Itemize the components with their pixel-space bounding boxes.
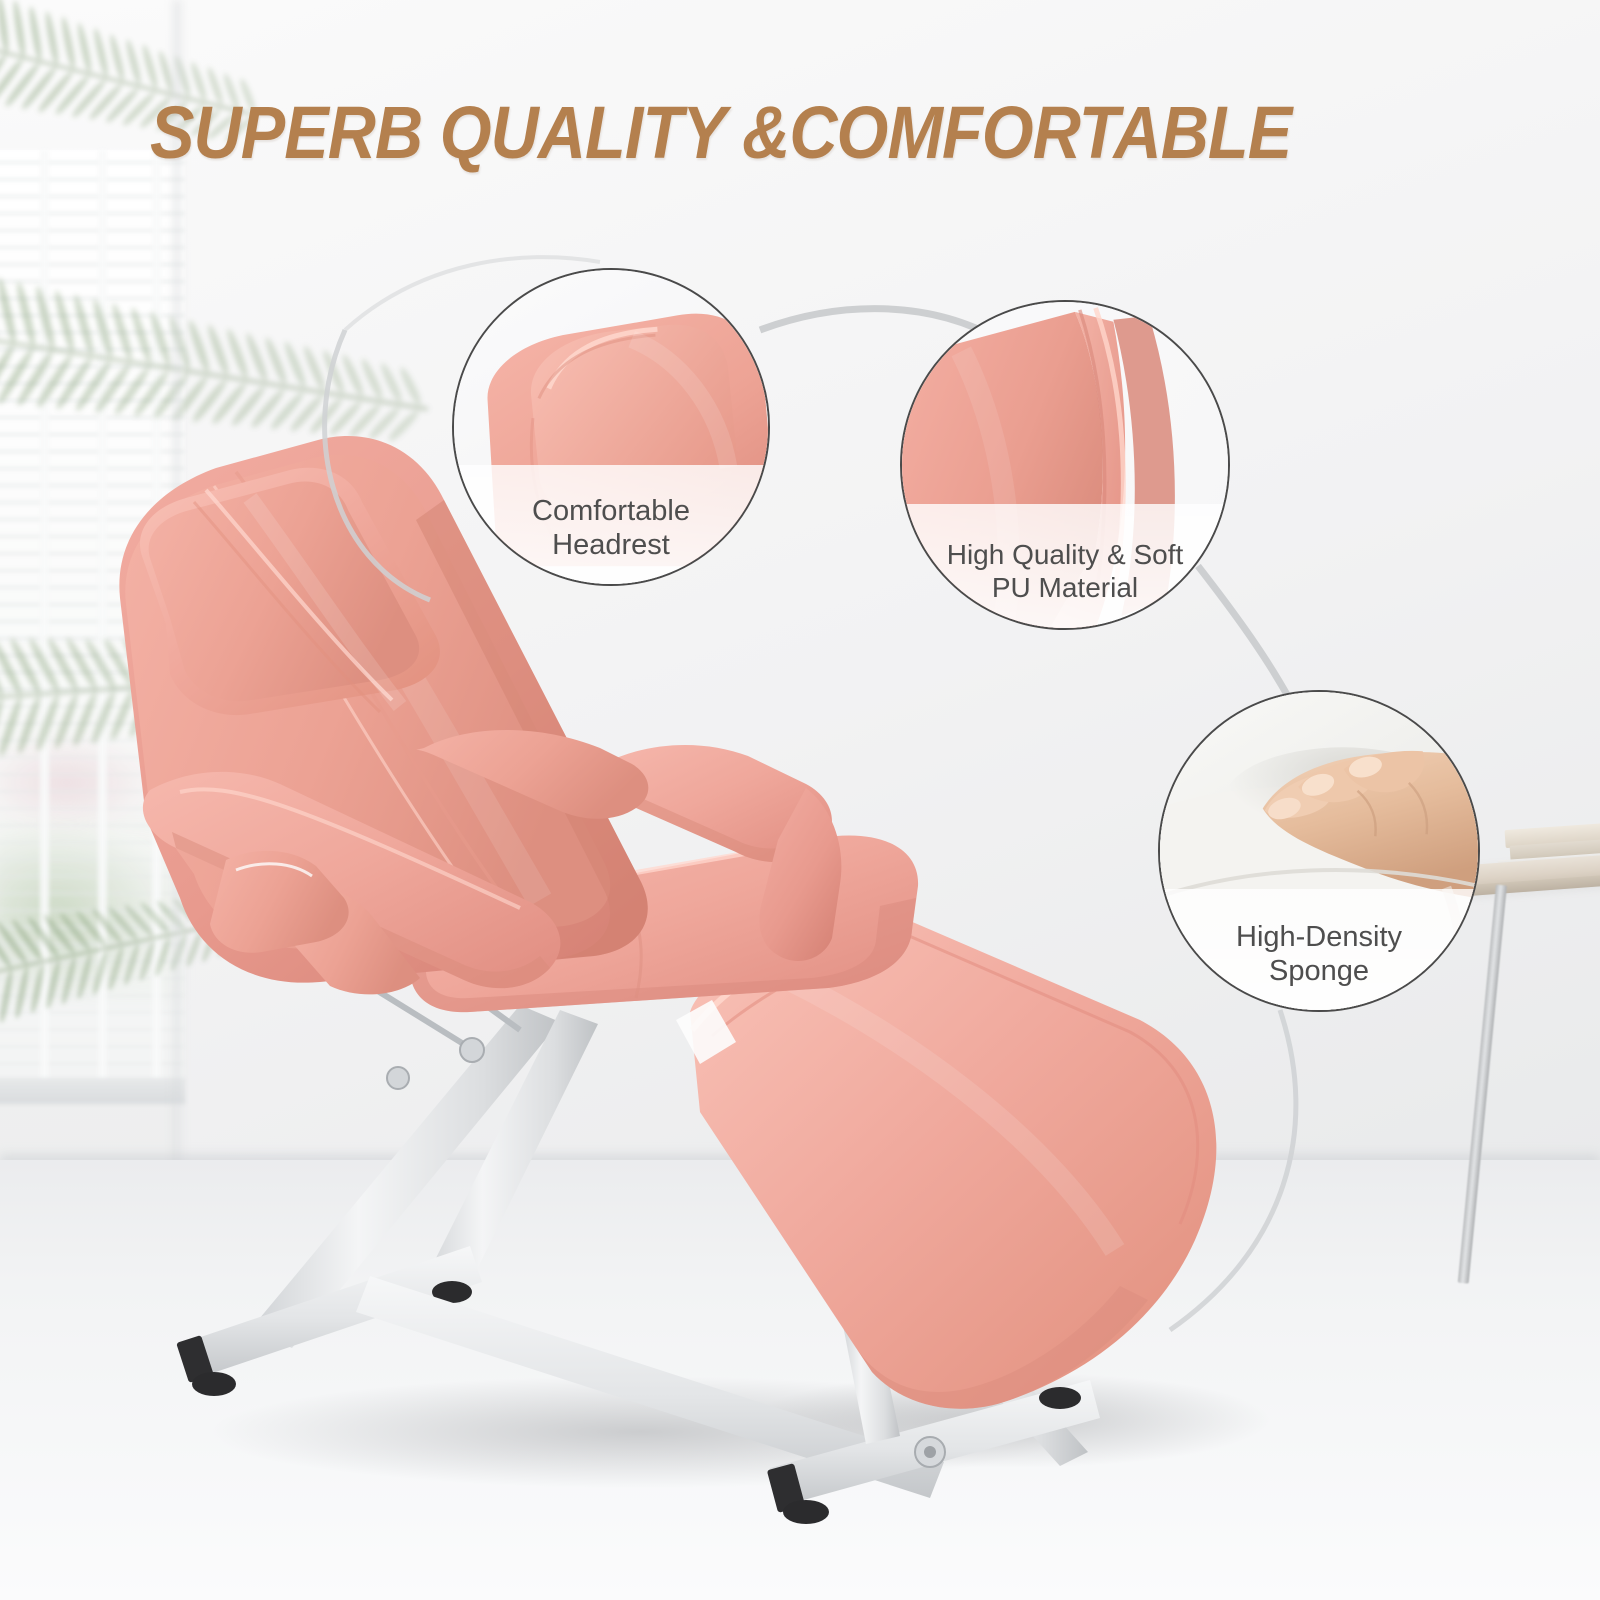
callout-high-quality-soft-pu-material[interactable]: High Quality & Soft PU Material — [900, 300, 1230, 630]
callout-comfortable-headrest[interactable]: Comfortable Headrest — [452, 268, 770, 586]
callout-label: High Quality & Soft PU Material — [902, 538, 1228, 628]
callout-label-line2: PU Material — [992, 571, 1138, 604]
callout-label-line1: High-Density — [1236, 920, 1402, 954]
callout-high-density-sponge[interactable]: High-Density Sponge — [1158, 690, 1480, 1012]
callout-label-line2: Headrest — [552, 528, 670, 562]
callout-label-line1: High Quality & Soft — [947, 538, 1184, 571]
callout-label: Comfortable Headrest — [454, 494, 768, 584]
product-marketing-image: SUPERB QUALITY &COMFORTABLE — [0, 0, 1600, 1600]
callout-label: High-Density Sponge — [1160, 920, 1478, 1010]
callout-label-line1: Comfortable — [532, 494, 690, 528]
callout-label-line2: Sponge — [1269, 954, 1369, 988]
